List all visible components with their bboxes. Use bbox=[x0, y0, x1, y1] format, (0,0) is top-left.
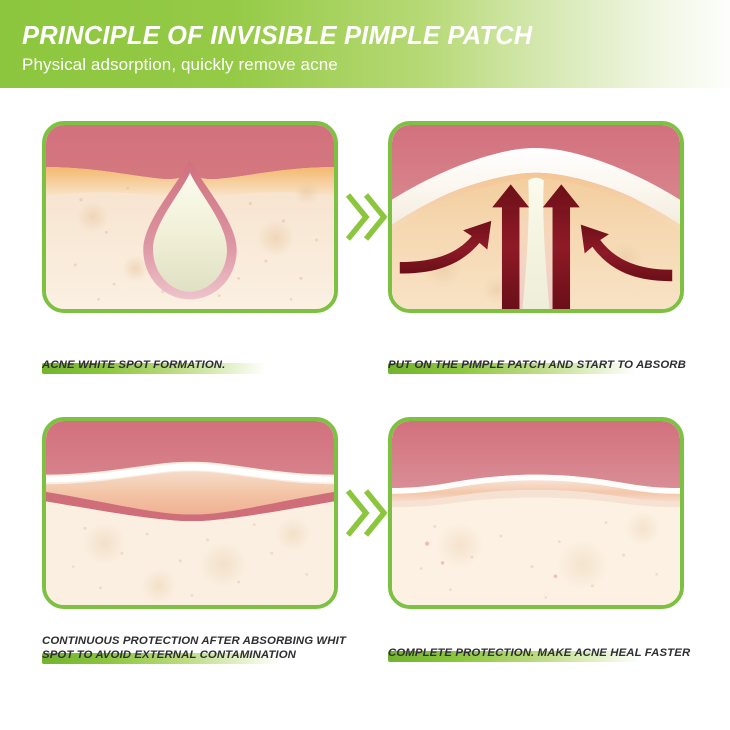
step-1-caption: ACNE WHITE SPOT FORMATION. bbox=[42, 358, 225, 372]
step-3-caption: CONTINUOUS PROTECTION AFTER ABSORBING WH… bbox=[42, 634, 346, 662]
caption-line: SPOT TO AVOID EXTERNAL CONTAMINATION bbox=[42, 648, 346, 662]
caption-line: COMPLETE PROTECTION. MAKE ACNE HEAL FAST… bbox=[388, 646, 690, 660]
step-4-caption: COMPLETE PROTECTION. MAKE ACNE HEAL FAST… bbox=[388, 646, 690, 660]
chevron-right-icon bbox=[344, 484, 390, 542]
chevron-right-icon bbox=[344, 188, 390, 246]
page-title: PRINCIPLE OF INVISIBLE PIMPLE PATCH bbox=[22, 22, 532, 51]
caption-line: PUT ON THE PIMPLE PATCH AND START TO ABS… bbox=[388, 358, 686, 372]
patch-protection-illustration bbox=[46, 421, 334, 605]
healed-skin-illustration bbox=[392, 421, 680, 605]
step-3-image-panel bbox=[42, 417, 338, 609]
infographic-page: PRINCIPLE OF INVISIBLE PIMPLE PATCH Phys… bbox=[0, 0, 730, 730]
acne-whitehead-illustration bbox=[46, 125, 334, 309]
step-4-image-panel bbox=[388, 417, 684, 609]
patch-absorbing-illustration bbox=[392, 125, 680, 309]
step-2-image-panel bbox=[388, 121, 684, 313]
step-2-caption: PUT ON THE PIMPLE PATCH AND START TO ABS… bbox=[388, 358, 686, 372]
caption-line: ACNE WHITE SPOT FORMATION. bbox=[42, 358, 225, 372]
step-1-image-panel bbox=[42, 121, 338, 313]
page-subtitle: Physical adsorption, quickly remove acne bbox=[22, 55, 338, 75]
caption-line: CONTINUOUS PROTECTION AFTER ABSORBING WH… bbox=[42, 634, 346, 648]
header-banner: PRINCIPLE OF INVISIBLE PIMPLE PATCH Phys… bbox=[0, 0, 730, 88]
